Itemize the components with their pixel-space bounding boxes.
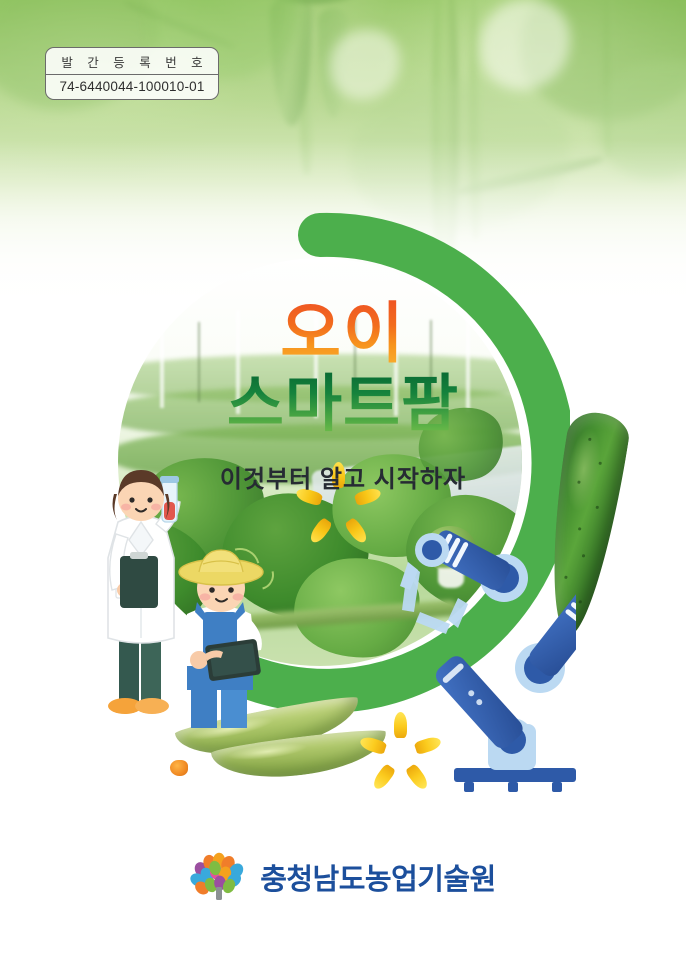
cucumber-blossom-end bbox=[170, 760, 188, 776]
registration-label: 발 간 등 록 번 호 bbox=[46, 48, 218, 75]
colorful-tree-logo-icon bbox=[190, 852, 246, 902]
robot-gripper bbox=[400, 562, 468, 634]
robotic-arm bbox=[396, 528, 576, 798]
registration-number: 74-6440044-100010-01 bbox=[46, 75, 218, 99]
cover-page: 발 간 등 록 번 호 74-6440044-100010-01 bbox=[0, 0, 686, 971]
footer-branding: 충청남도농업기술원 bbox=[0, 852, 686, 902]
robot-base-plate bbox=[454, 768, 576, 782]
registration-number-box: 발 간 등 록 번 호 74-6440044-100010-01 bbox=[45, 47, 219, 100]
organization-name: 충청남도농업기술원 bbox=[260, 856, 496, 898]
character-farmer bbox=[163, 542, 283, 728]
